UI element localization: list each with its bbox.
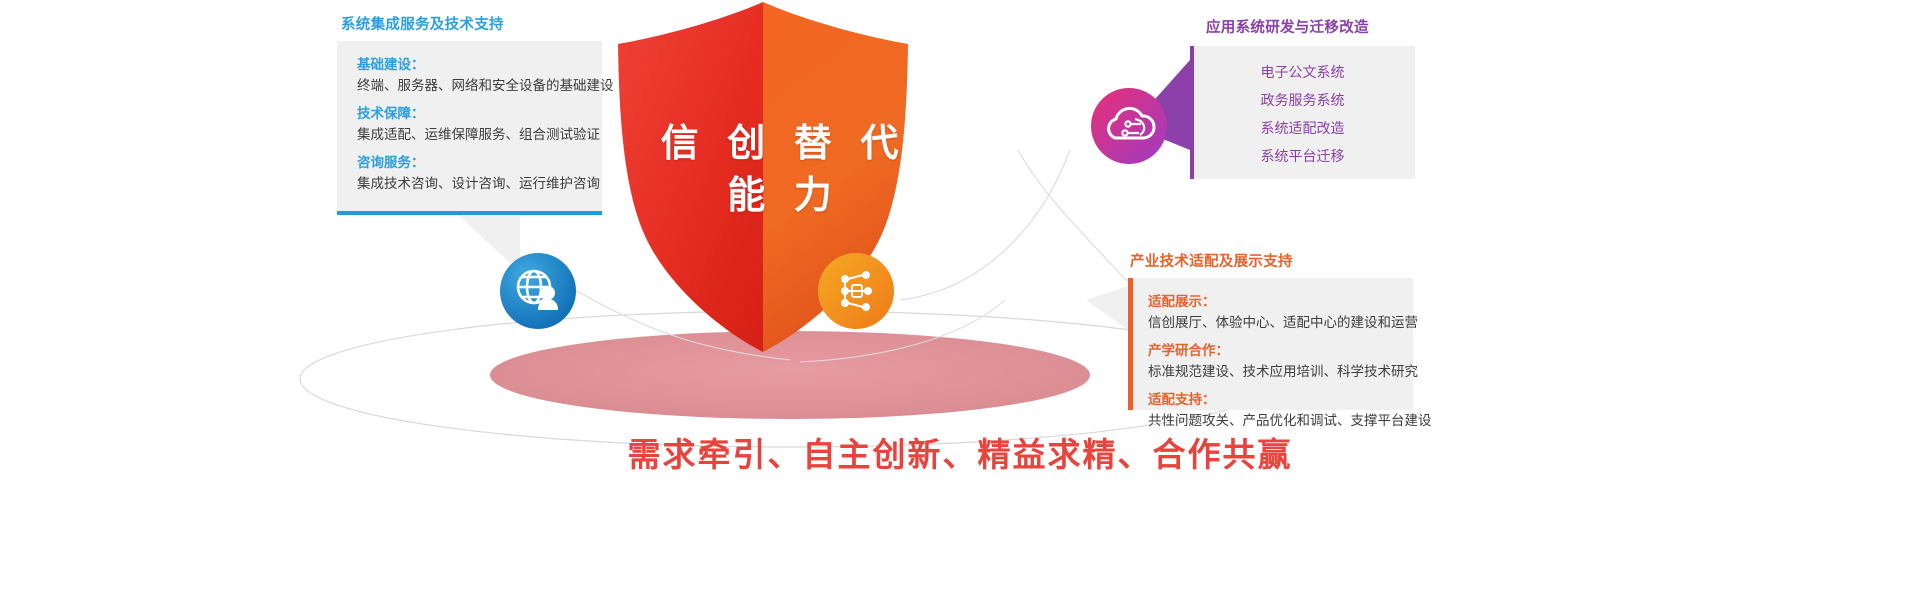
right-card: 电子公文系统 政务服务系统 系统适配改造 系统平台迁移 xyxy=(1190,46,1415,179)
orange-card-group: 适配展示： 信创展厅、体验中心、适配中心的建设和运营 xyxy=(1148,292,1395,333)
chip-network-icon xyxy=(818,253,894,329)
left-card-title: 系统集成服务及技术支持 xyxy=(341,13,504,34)
base-disc xyxy=(490,331,1090,419)
connector-curve-topright xyxy=(1018,150,1128,282)
shield-inner-shade xyxy=(692,2,763,352)
left-group-2-head: 技术保障： xyxy=(357,104,584,124)
left-card-group: 咨询服务： 集成技术咨询、设计咨询、运行维护咨询 xyxy=(357,153,584,194)
left-card-group: 技术保障： 集成适配、运维保障服务、组合测试验证 xyxy=(357,104,584,145)
orange-card-pointer xyxy=(1086,286,1128,330)
orange-group-3-head: 适配支持： xyxy=(1148,390,1395,410)
list-item: 电子公文系统 xyxy=(1190,58,1415,86)
right-card-accent-bar xyxy=(1190,46,1194,179)
slogan-text: 需求牵引、自主创新、精益求精、合作共赢 xyxy=(628,436,1293,473)
orange-group-2-body: 标准规范建设、技术应用培训、科学技术研究 xyxy=(1148,361,1395,382)
left-group-2-body: 集成适配、运维保障服务、组合测试验证 xyxy=(357,124,584,145)
orange-group-1-head: 适配展示： xyxy=(1148,292,1395,312)
left-card-group: 基础建设： 终端、服务器、网络和安全设备的基础建设 xyxy=(357,55,584,96)
orange-card-group: 适配支持： 共性问题攻关、产品优化和调试、支撑平台建设 xyxy=(1148,390,1395,431)
list-item: 政务服务系统 xyxy=(1190,86,1415,114)
right-card-list: 电子公文系统 政务服务系统 系统适配改造 系统平台迁移 xyxy=(1190,58,1415,170)
infographic-stage: 信 创 替 代 能 力 系统集成服务及技术支持 基础建设： 终端、服务器、网络和… xyxy=(0,0,1920,605)
shield-left-half xyxy=(618,2,763,352)
orange-group-2-head: 产学研合作： xyxy=(1148,341,1395,361)
globe-user-icon xyxy=(500,253,576,329)
cloud-network-icon xyxy=(1091,88,1167,164)
orange-card-accent-bar xyxy=(1128,278,1133,410)
orange-card: 适配展示： 信创展厅、体验中心、适配中心的建设和运营 产学研合作： 标准规范建设… xyxy=(1128,278,1413,410)
list-item: 系统适配改造 xyxy=(1190,114,1415,142)
left-group-1-body: 终端、服务器、网络和安全设备的基础建设 xyxy=(357,75,584,96)
shield-caption-line-1: 信 创 替 代 xyxy=(634,118,934,170)
connector-curve-left xyxy=(575,290,790,360)
left-card: 基础建设： 终端、服务器、网络和安全设备的基础建设 技术保障： 集成适配、运维保… xyxy=(337,41,602,215)
slogan: 需求牵引、自主创新、精益求精、合作共赢 xyxy=(0,428,1920,476)
graphics-layer xyxy=(0,0,1920,605)
orange-group-1-body: 信创展厅、体验中心、适配中心的建设和运营 xyxy=(1148,312,1395,333)
left-group-1-head: 基础建设： xyxy=(357,55,584,75)
shield-caption-line-2: 能 力 xyxy=(634,170,934,222)
shield-caption: 信 创 替 代 能 力 xyxy=(634,118,934,222)
list-item: 系统平台迁移 xyxy=(1190,142,1415,170)
orange-card-group: 产学研合作： 标准规范建设、技术应用培训、科学技术研究 xyxy=(1148,341,1395,382)
right-card-title: 应用系统研发与迁移改造 xyxy=(1206,16,1369,37)
orange-card-title: 产业技术适配及展示支持 xyxy=(1130,250,1293,271)
left-group-3-head: 咨询服务： xyxy=(357,153,584,173)
left-group-3-body: 集成技术咨询、设计咨询、运行维护咨询 xyxy=(357,173,584,194)
left-card-underline xyxy=(337,211,602,215)
connector-curve-cloud xyxy=(900,150,1070,300)
